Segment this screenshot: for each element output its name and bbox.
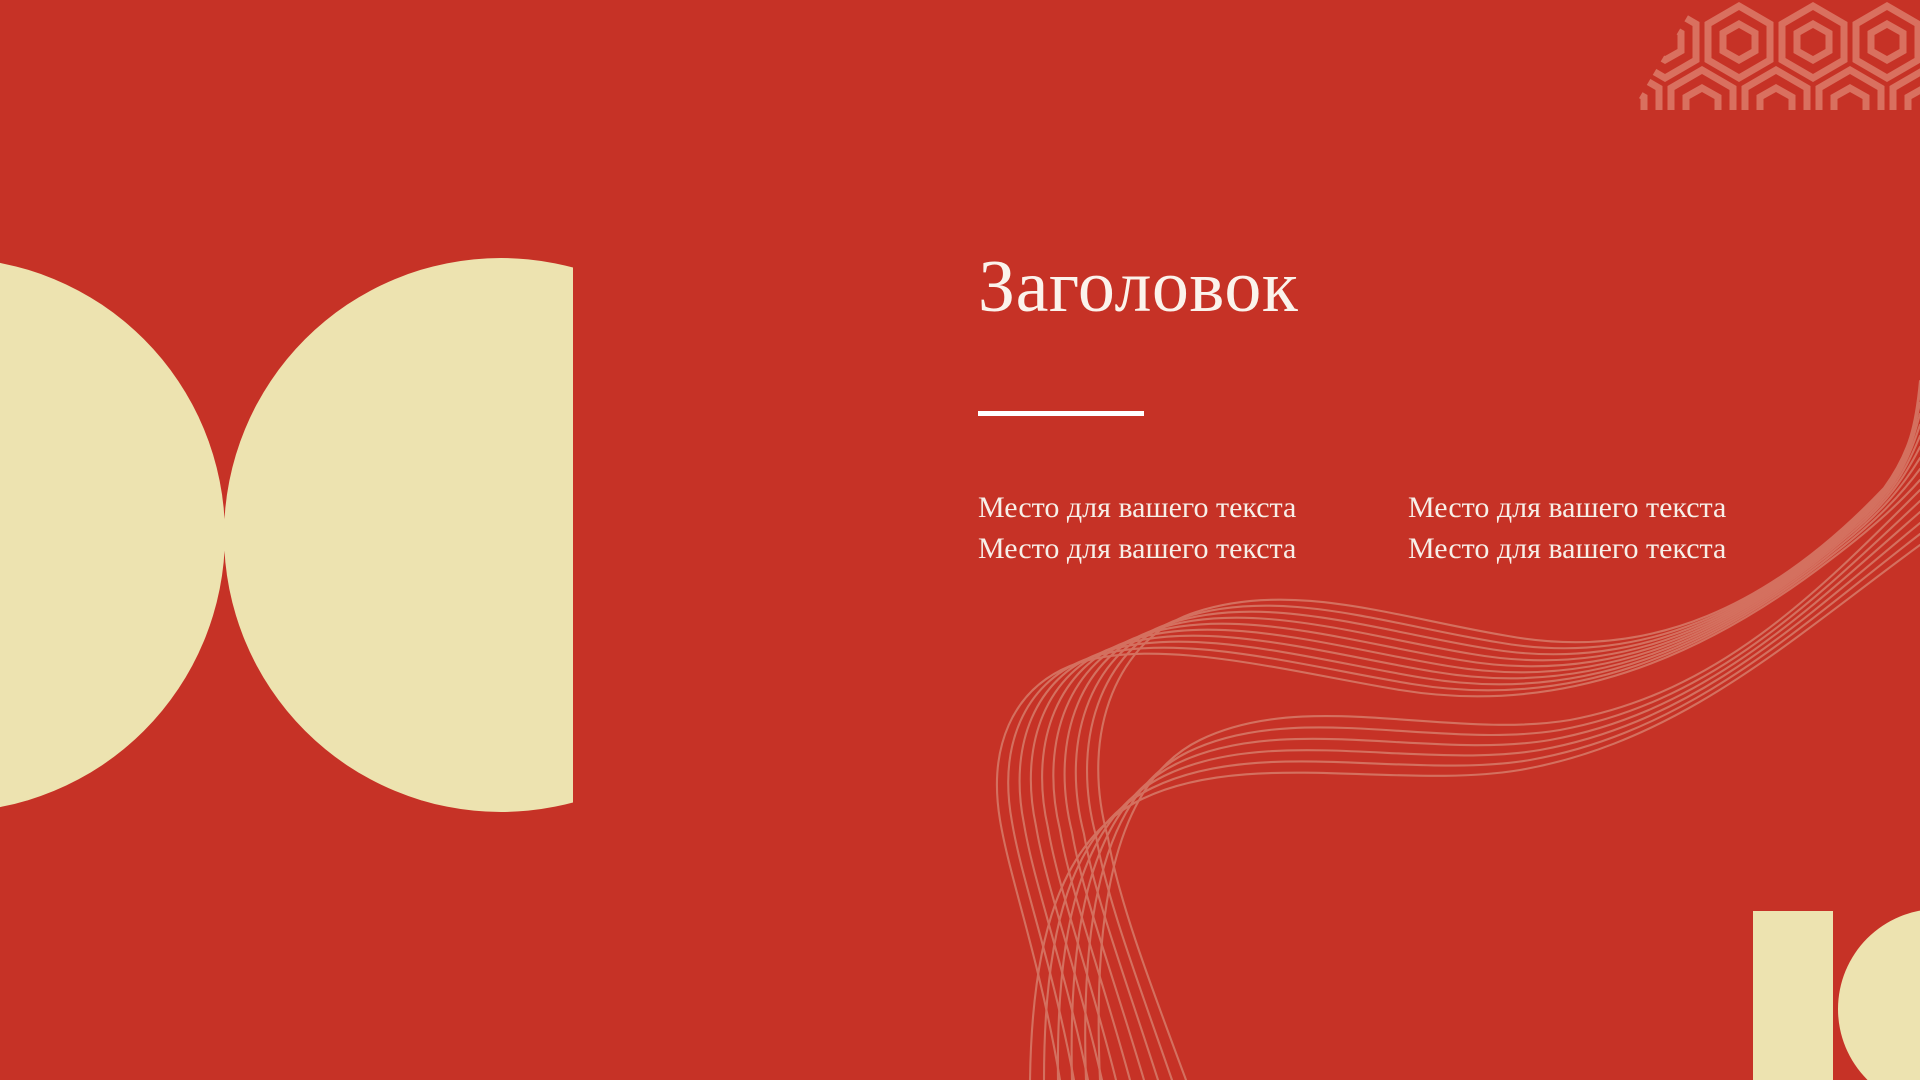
text-column-1: Место для вашего текста Место для вашего… <box>978 487 1328 570</box>
title-divider <box>978 411 1144 416</box>
page-title: Заголовок <box>978 250 1778 324</box>
text-column-2: Место для вашего текста Место для вашего… <box>1408 487 1758 570</box>
slide-canvas: Заголовок Место для вашего текста Место … <box>0 0 1920 1080</box>
content-block: Заголовок Место для вашего текста Место … <box>978 250 1778 600</box>
text-columns: Место для вашего текста Место для вашего… <box>978 457 1778 600</box>
